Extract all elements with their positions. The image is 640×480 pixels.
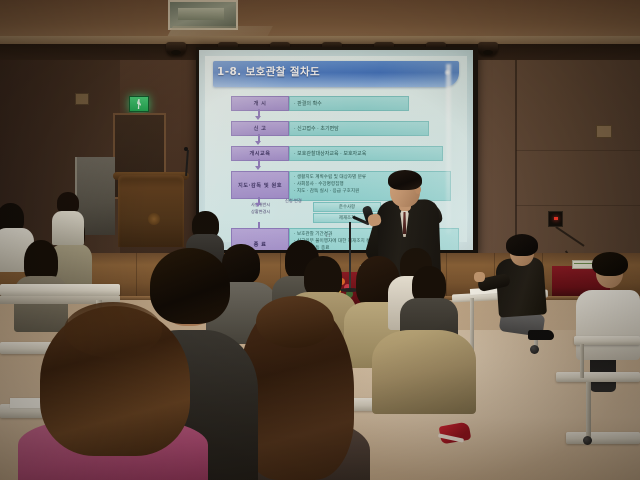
- slide-row-label: 개 시: [231, 96, 289, 111]
- white-shirt-person-body: [576, 290, 640, 360]
- ceiling-lip: [0, 36, 640, 44]
- student-desk: [566, 432, 640, 444]
- sparkle-icon: [444, 69, 451, 76]
- arrow-down-icon: [255, 141, 261, 145]
- running-person-glyph: [137, 99, 141, 109]
- slide-row-content: · 생활지도 계획수립 및 대상자별 분류 · 사회봉사 · 수강명령집행 · …: [289, 171, 451, 201]
- podium: [118, 175, 184, 247]
- podium-microphone-icon: [184, 147, 188, 151]
- slide-row-content: · 보호관찰대상자교육 · 보호자교육: [289, 146, 443, 161]
- seated-man-hand: [474, 272, 485, 282]
- slide-row-label: 개시교육: [231, 146, 289, 161]
- slide-row-label: 지도·감독 및 원호: [231, 171, 289, 199]
- seated-man-hair: [506, 234, 538, 256]
- podium-emblem: [148, 213, 160, 225]
- arrow-down-icon: [255, 203, 261, 207]
- ceiling: [0, 0, 640, 40]
- wall-plate: [596, 125, 612, 138]
- desk-leg: [580, 344, 584, 378]
- slide-row-content-lines: · 생활지도 계획수립 및 대상자별 분류 · 사회봉사 · 수강명령집행 · …: [290, 174, 366, 196]
- ceiling-spotlight-icon: [166, 42, 186, 56]
- white-shirt-person-hair: [592, 252, 628, 276]
- slide-row-content: · 판결의 확수: [289, 96, 409, 111]
- seated-man-shoe: [528, 330, 554, 340]
- microphone-stand: [349, 222, 351, 290]
- exit-sign-icon: [129, 96, 149, 112]
- student-desk: [0, 284, 120, 296]
- student-desk: [556, 372, 640, 382]
- slide-page-number: 11: [325, 234, 331, 239]
- desk-caster: [583, 436, 592, 445]
- slide-row-content: · 신고접수 · 초기면담: [289, 121, 429, 136]
- ceiling-spotlight-icon: [478, 42, 498, 56]
- mid-side-label: 상황변경시: [251, 209, 270, 215]
- wall-panel-line: [516, 150, 640, 151]
- slide-title: 1-8. 보호관찰 절차도: [217, 64, 320, 79]
- mid-side-label: 신청·변경: [285, 198, 302, 204]
- arrow-down-icon: [255, 166, 261, 170]
- arrow-down-icon: [255, 116, 261, 120]
- table-caster: [530, 345, 539, 354]
- slide-row-label: 신 고: [231, 121, 289, 136]
- wall-plate: [75, 93, 89, 105]
- lecture-hall-photo: 1-8. 보호관찰 절차도 개 시 · 판결의 확수 신 고: [0, 0, 640, 480]
- presenter-hair: [388, 170, 422, 190]
- wall-panel-line: [516, 205, 640, 206]
- wall-control-panel[interactable]: [548, 211, 563, 227]
- desk-leg: [586, 382, 591, 438]
- indicator-light: [554, 217, 558, 220]
